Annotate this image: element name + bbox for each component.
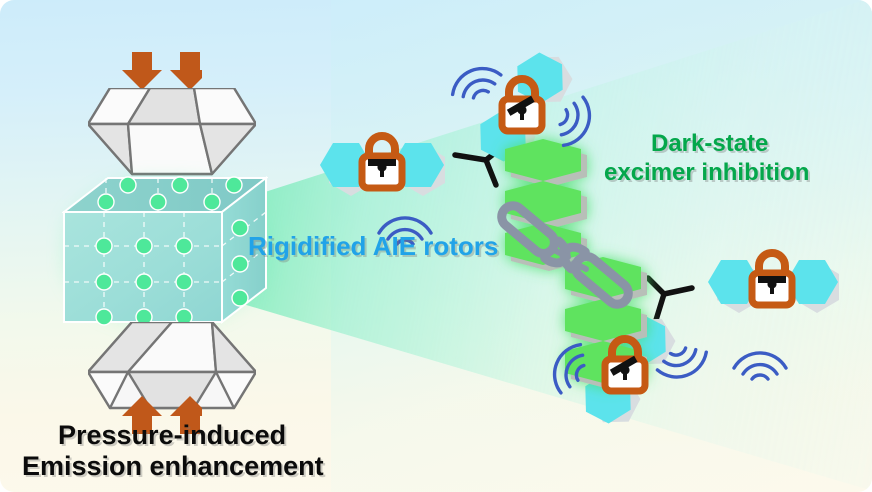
vibration-arc-icon [553,93,597,151]
pressure-arrows-down [118,52,202,92]
label-rigidified-aie-rotors: Rigidified AIE rotors [248,231,498,262]
label-emission-enhancement: Emission enhancement [22,451,324,483]
label-dark-state: Dark-state [651,130,768,158]
vibration-arc-icon [447,61,505,105]
label-pressure-induced: Pressure-induced [58,420,286,452]
luminescent-crystal-cube [62,176,268,326]
diamond-anvil-top [88,88,256,176]
vibration-arc-icon [734,353,786,379]
label-excimer-inhibition: excimer inhibition [604,159,809,187]
figure-canvas: Rigidified AIE rotors Dark-state excimer… [0,0,872,492]
